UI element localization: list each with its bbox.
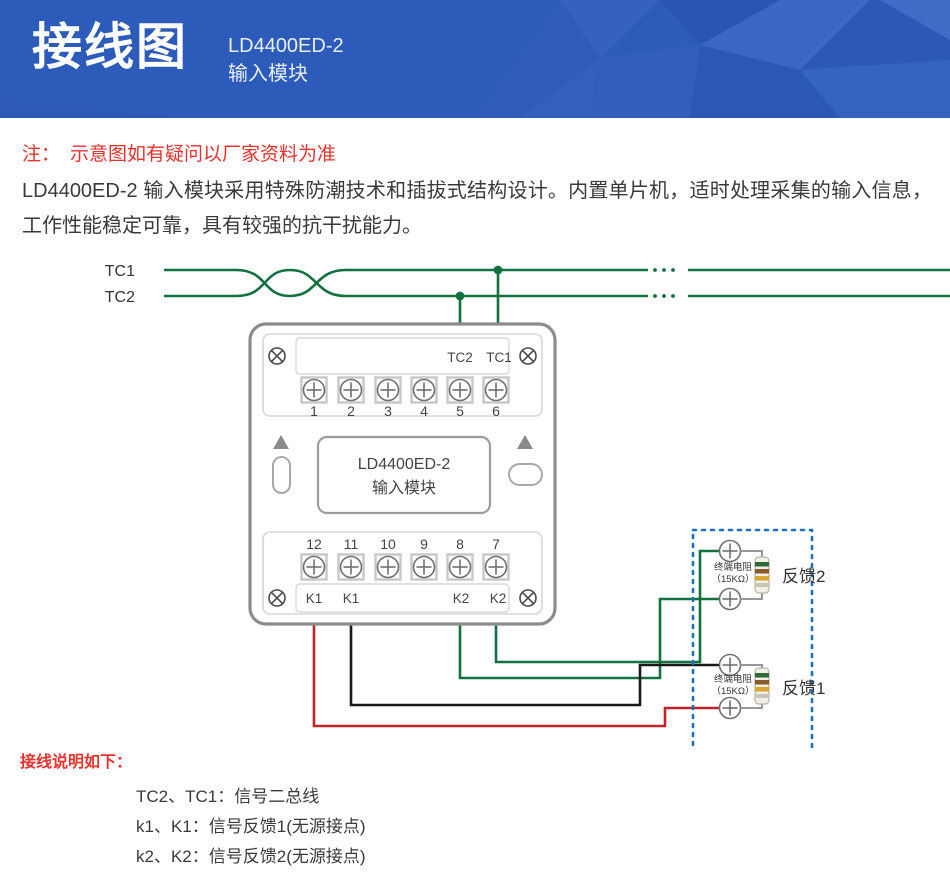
feedback1-resistor-label-1: 终端电阻 <box>714 673 753 685</box>
terminal-number-5: 5 <box>456 403 464 419</box>
corner-screw-bottom-right <box>520 590 536 606</box>
module-name: LD4400ED-2 <box>358 456 451 473</box>
terminal-number-4: 4 <box>420 403 428 419</box>
feedback-enclosure-dashed-box <box>693 530 812 748</box>
input-module: TC2 TC1 1 2 3 4 5 6 LD4400ED-2 输入模块 <box>250 324 555 624</box>
terminal-number-6: 6 <box>492 403 500 419</box>
feedback1-resistor-label-2: （15KΩ） <box>711 685 754 697</box>
bus-label-tc2: TC2 <box>105 289 135 306</box>
legend-line-k1: k1、K1：信号反馈1(无源接点) <box>136 812 366 837</box>
page-title: 接线图 <box>32 22 188 72</box>
notice-body: 示意图如有疑问以厂家资料为准 <box>70 144 336 165</box>
top-label-tc2: TC2 <box>447 350 473 365</box>
bottom-label-k2-b: K2 <box>490 591 507 606</box>
terminal-number-3: 3 <box>384 403 392 419</box>
feedback1-name: 反馈1 <box>782 679 825 698</box>
terminal-screw-7[interactable] <box>486 557 507 578</box>
terminal-screw-10[interactable] <box>378 557 399 578</box>
feedback2-resistor-label-1: 终端电阻 <box>714 561 753 573</box>
legend-line-tc: TC2、TC1：信号二总线 <box>136 782 319 807</box>
terminal-screw-1[interactable] <box>304 380 325 401</box>
terminal-screw-8[interactable] <box>450 557 471 578</box>
terminal-screw-2[interactable] <box>341 380 362 401</box>
corner-screw-bottom-left <box>269 590 285 606</box>
terminal-screw-5[interactable] <box>450 380 471 401</box>
terminal-number-9: 9 <box>420 536 428 552</box>
terminal-screw-11[interactable] <box>341 557 362 578</box>
terminal-number-7: 7 <box>492 536 500 552</box>
bus-continuation-dots <box>653 268 675 298</box>
signal-bus-wires <box>164 270 950 330</box>
legend-title: 接线说明如下： <box>20 748 132 772</box>
legend-line-k2: k2、K2：信号反馈2(无源接点) <box>136 842 366 867</box>
terminal-number-8: 8 <box>456 536 464 552</box>
feedback-group-1: 终端电阻 （15KΩ） 反馈1 <box>711 655 825 719</box>
module-type: 输入模块 <box>372 479 436 497</box>
terminal-number-1: 1 <box>310 403 318 419</box>
left-latch-slot[interactable] <box>273 457 290 493</box>
bottom-label-k1-b: K1 <box>343 591 360 606</box>
header-model: LD4400ED-2 <box>228 32 344 60</box>
notice-label: 注： <box>22 144 60 165</box>
feedback1-terminal-top[interactable] <box>720 655 741 676</box>
feedback2-terminal-top[interactable] <box>720 541 741 562</box>
terminal-screw-6[interactable] <box>486 380 507 401</box>
header-subtitle-group: LD4400ED-2 输入模块 <box>228 32 344 88</box>
notice-text: 注：示意图如有疑问以厂家资料为准 <box>22 139 336 166</box>
wiring-diagram: TC1 TC2 TC2 TC1 1 2 3 <box>0 248 950 748</box>
feedback2-name: 反馈2 <box>782 567 825 586</box>
page-header: 接线图 LD4400ED-2 输入模块 <box>0 0 950 118</box>
feedback-group-2: 终端电阻 （15KΩ） 反馈2 <box>711 541 825 610</box>
bottom-label-k2-a: K2 <box>453 591 470 606</box>
terminal-number-11: 11 <box>344 536 359 552</box>
terminal-screw-3[interactable] <box>378 380 399 401</box>
bottom-label-k1-a: K1 <box>306 591 323 606</box>
terminal-screw-12[interactable] <box>304 557 325 578</box>
feedback2-resistor-label-2: （15KΩ） <box>711 573 754 585</box>
feedback1-terminal-bottom[interactable] <box>720 698 741 719</box>
terminal-resistor-1 <box>755 668 769 704</box>
terminal-screw-4[interactable] <box>414 380 435 401</box>
header-type: 输入模块 <box>228 60 344 88</box>
terminal-resistor-2 <box>755 557 769 593</box>
bus-label-tc1: TC1 <box>105 263 135 280</box>
top-label-tc1: TC1 <box>486 350 512 365</box>
feedback2-terminal-bottom[interactable] <box>720 589 741 610</box>
corner-screw-top-right <box>520 348 536 364</box>
terminal-number-10: 10 <box>380 536 396 552</box>
terminal-number-2: 2 <box>347 403 355 419</box>
terminal-number-12: 12 <box>306 536 322 552</box>
description-paragraph: LD4400ED-2 输入模块采用特殊防潮技术和插拔式结构设计。内置单片机，适时… <box>22 174 932 244</box>
corner-screw-top-left <box>269 348 285 364</box>
terminal-screw-9[interactable] <box>414 557 435 578</box>
right-latch-slot[interactable] <box>509 464 542 485</box>
